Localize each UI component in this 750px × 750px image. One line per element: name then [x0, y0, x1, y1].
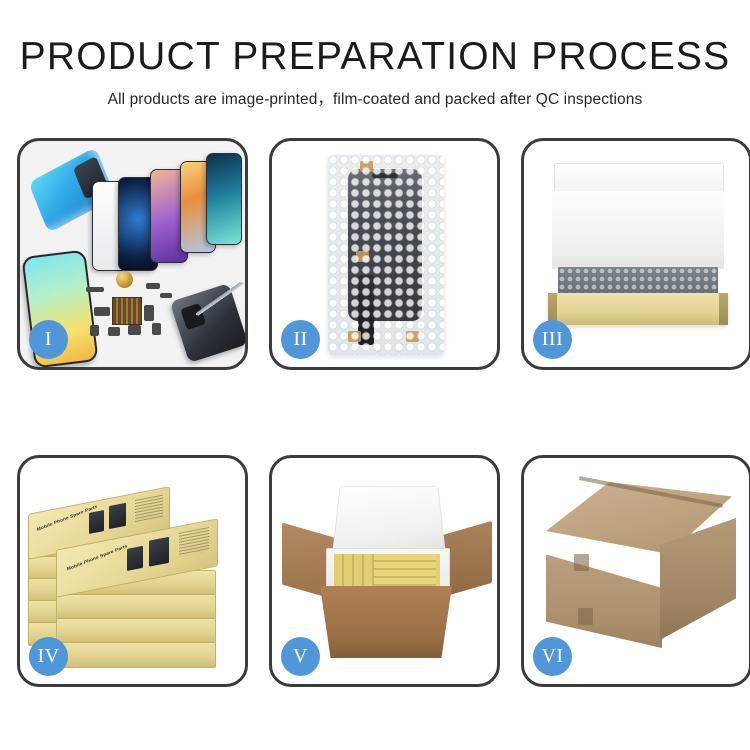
process-step-grid: I II III — [17, 138, 733, 687]
step-badge-5: V — [281, 637, 320, 676]
step-badge-3: III — [533, 320, 572, 359]
white-foam-padding — [552, 191, 724, 269]
lid-screen-image-c — [127, 546, 143, 571]
bubble-wrap-bag — [328, 155, 444, 355]
carton-tape-lower — [578, 608, 593, 625]
packed-yellow-boxes-stack — [374, 554, 436, 590]
process-step-panel-6[interactable]: VI — [521, 455, 750, 687]
step-badge-1: I — [29, 320, 68, 359]
open-kraft-box — [542, 163, 734, 327]
lid-screen-image-b — [109, 503, 126, 529]
phone-lineup — [92, 153, 242, 273]
lid-screen-image-a — [89, 510, 104, 534]
lid-spec-text-block-rear — [135, 495, 163, 522]
vibrator-part — [128, 325, 141, 335]
tape-tab-mid — [356, 251, 369, 262]
tape-tab-top — [360, 161, 373, 172]
button-part — [108, 327, 120, 336]
connector-part — [146, 283, 160, 289]
phone-teal — [206, 153, 242, 245]
process-step-panel-1[interactable]: I — [17, 138, 248, 370]
process-step-panel-3[interactable]: III — [521, 138, 750, 370]
battery-connector-part — [144, 305, 154, 321]
speaker-part — [116, 271, 133, 288]
page-title: PRODUCT PREPARATION PROCESS — [0, 36, 750, 78]
tape-tab-bottom-left — [348, 331, 361, 342]
screw-set-part — [152, 323, 161, 335]
ribbon-part — [86, 287, 104, 292]
step-badge-2: II — [281, 320, 320, 359]
stacked-box-edge — [56, 642, 216, 668]
carton-tape-upper — [574, 554, 589, 571]
process-step-panel-4[interactable]: Mobile Phone Spare Parts Mobile Phone Sp… — [17, 455, 248, 687]
box-lid-label-front: Mobile Phone Spare Parts — [67, 543, 128, 571]
tweezers-tool — [196, 276, 244, 323]
carton-body — [320, 586, 452, 658]
lid-screen-image-d — [149, 537, 169, 567]
stacked-box-edge — [56, 618, 216, 644]
process-step-panel-5[interactable]: V — [269, 455, 500, 687]
sim-tray-part — [90, 325, 99, 336]
stacked-box-edge — [56, 594, 216, 620]
page-subtitle: All products are image-printed，film-coat… — [0, 87, 750, 109]
sealed-shipping-carton — [538, 482, 742, 658]
flex-cable-part — [160, 293, 172, 298]
box-front-wall — [548, 293, 728, 325]
foam-cooler-lid — [332, 486, 446, 558]
process-step-panel-2[interactable]: II — [269, 138, 500, 370]
tape-tab-bottom-right — [406, 331, 419, 342]
page-header: PRODUCT PREPARATION PROCESS All products… — [0, 0, 750, 109]
step-badge-4: IV — [29, 637, 68, 676]
lid-spec-text-block-front — [179, 527, 209, 557]
step-badge-6: VI — [533, 637, 572, 676]
logic-board-part — [112, 297, 142, 325]
camera-part — [94, 307, 110, 316]
